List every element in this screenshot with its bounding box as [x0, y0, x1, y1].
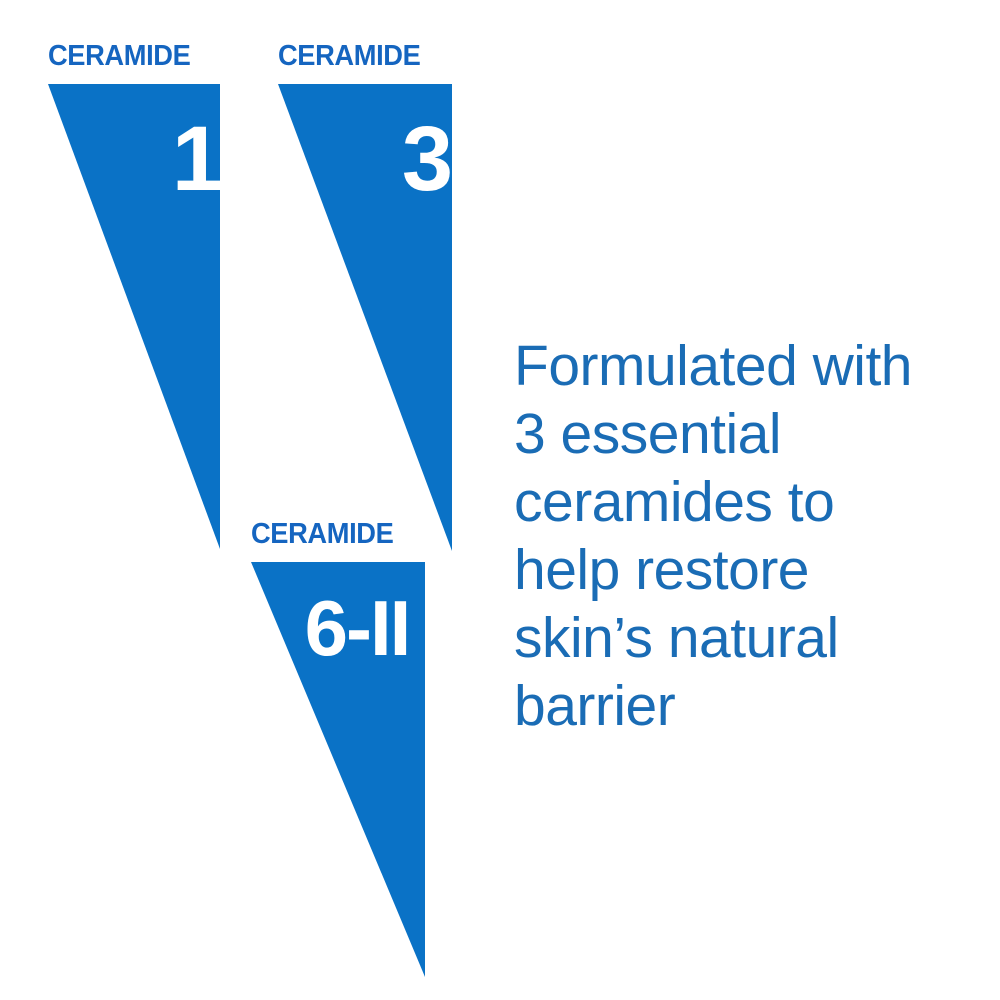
- ceramide-infographic: CERAMIDE 1 CERAMIDE 3 CERAMIDE 6-II Form…: [0, 0, 1000, 1000]
- ceramide-number-1: 1: [130, 113, 264, 205]
- ceramide-label-3: CERAMIDE: [278, 40, 420, 72]
- ceramide-label-1: CERAMIDE: [48, 40, 190, 72]
- ceramide-number-3: 3: [360, 113, 494, 205]
- ceramide-label-6-ii: CERAMIDE: [251, 518, 393, 550]
- ceramide-number-6-ii: 6-II: [277, 589, 437, 667]
- tagline-text: Formulated with 3 essential ceramides to…: [514, 332, 954, 740]
